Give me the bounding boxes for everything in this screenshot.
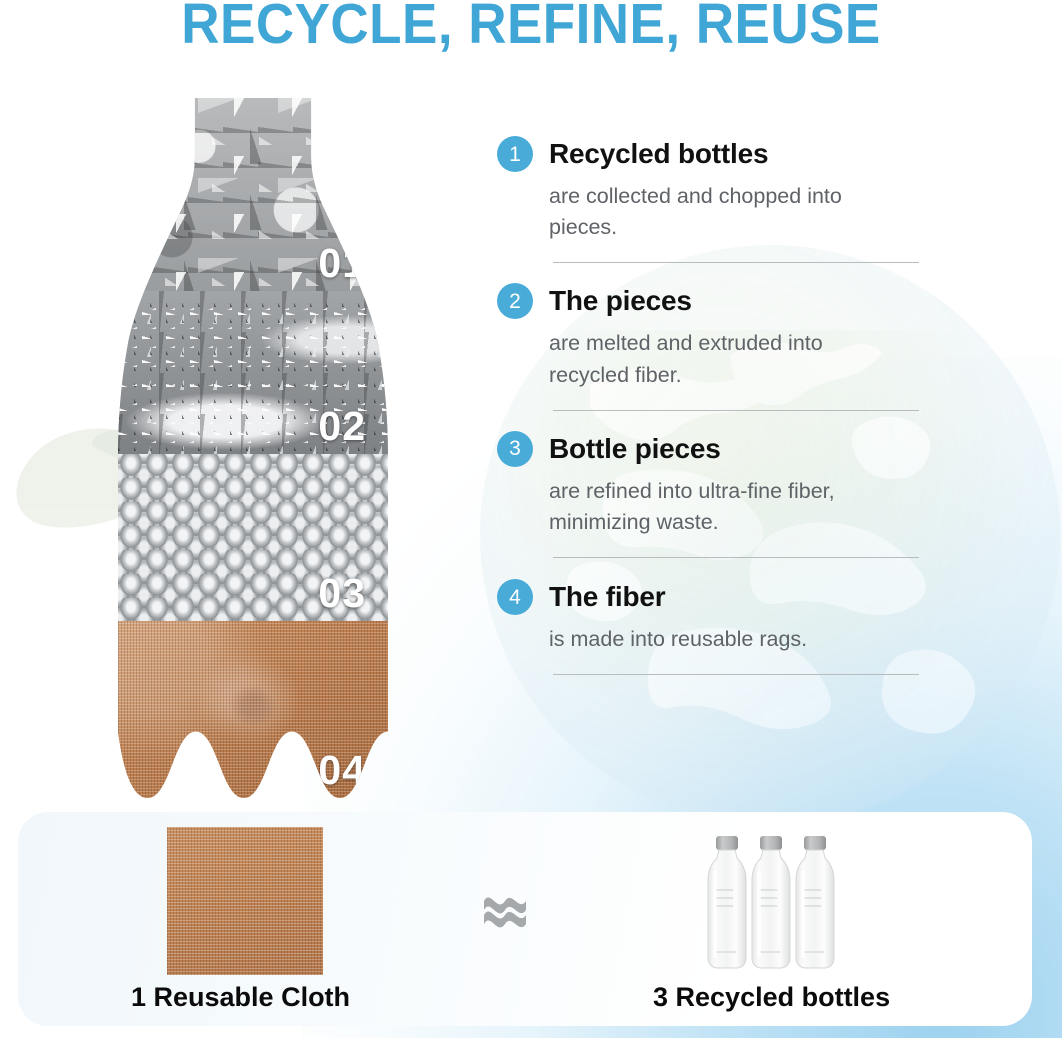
step-2-divider: [553, 410, 919, 411]
step-item-1: 1 Recycled bottles are collected and cho…: [497, 136, 927, 263]
bottle-segment-02: 02: [118, 291, 388, 454]
step-3-divider: [553, 557, 919, 558]
segment-number-02: 02: [318, 403, 366, 450]
bottle-segment-01: 01: [118, 98, 388, 291]
cloth-swatch-image: [167, 827, 323, 975]
page-title: RECYCLE, REFINE, REUSE: [37, 0, 1025, 53]
step-1-body: are collected and chopped into pieces.: [549, 181, 879, 243]
step-2-body: are melted and extruded into recycled fi…: [549, 328, 879, 390]
bottle-segment-03: 03: [118, 454, 388, 621]
bottle-segment-04: 04: [118, 621, 388, 798]
equivalence-panel: 1 Reusable Cloth 3 Recycled bottles: [18, 812, 1032, 1026]
step-4-header: 4 The fiber: [497, 579, 927, 615]
step-2-header: 2 The pieces: [497, 283, 927, 319]
step-1-number-badge: 1: [497, 136, 533, 172]
bottles-label: 3 Recycled bottles: [653, 982, 890, 1013]
step-2-number-badge: 2: [497, 283, 533, 319]
steps-list: 1 Recycled bottles are collected and cho…: [497, 136, 927, 675]
infographic-root: RECYCLE, REFINE, REUSE 01 02 03 04 1 Rec…: [0, 0, 1062, 1038]
step-1-divider: [553, 262, 919, 263]
step-item-3: 3 Bottle pieces are refined into ultra-f…: [497, 431, 927, 558]
step-4-divider: [553, 674, 919, 675]
segment-number-04: 04: [318, 747, 366, 794]
step-3-title: Bottle pieces: [549, 433, 721, 465]
step-4-body: is made into reusable rags.: [549, 624, 879, 655]
step-3-header: 3 Bottle pieces: [497, 431, 927, 467]
step-2-title: The pieces: [549, 285, 692, 317]
step-item-4: 4 The fiber is made into reusable rags.: [497, 579, 927, 675]
step-3-body: are refined into ultra-fine fiber, minim…: [549, 476, 879, 538]
segment-number-03: 03: [318, 570, 366, 617]
cloth-label: 1 Reusable Cloth: [131, 982, 350, 1013]
step-1-header: 1 Recycled bottles: [497, 136, 927, 172]
bottle-illustration: 01 02 03 04: [118, 98, 388, 798]
step-4-number-badge: 4: [497, 579, 533, 615]
step-item-2: 2 The pieces are melted and extruded int…: [497, 283, 927, 410]
approximately-equal-icon: [480, 886, 530, 932]
segment-number-01: 01: [318, 240, 366, 287]
step-3-number-badge: 3: [497, 431, 533, 467]
step-1-title: Recycled bottles: [549, 138, 768, 170]
recycled-bottles-image: [704, 828, 874, 976]
step-4-title: The fiber: [549, 581, 665, 613]
